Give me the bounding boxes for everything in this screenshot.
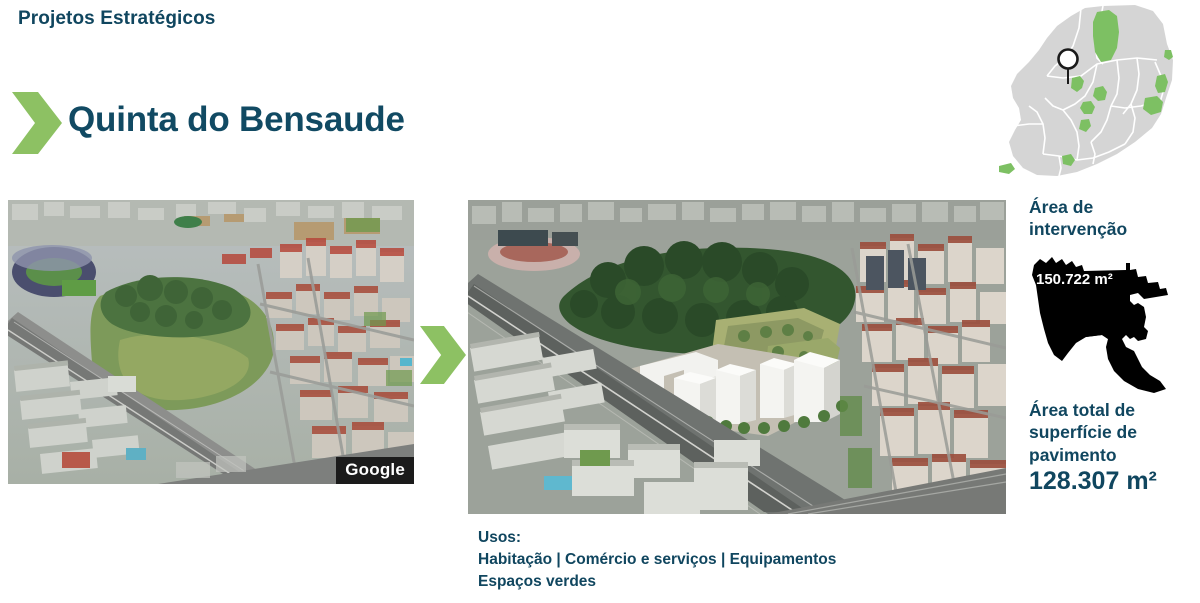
lisbon-locator-map [985, 2, 1190, 182]
intervention-area-label: Área de intervenção [1029, 196, 1199, 241]
transformation-arrow-icon [420, 326, 466, 384]
intervention-label-line-2: intervenção [1029, 218, 1199, 240]
intervention-area-shape: 150.722 m² [1026, 243, 1186, 395]
intervention-label-line-1: Área de [1029, 196, 1199, 218]
metrics-panel: Área de intervenção 150.722 m² Área tota… [1029, 196, 1199, 495]
usage-heading: Usos: [478, 527, 836, 549]
google-watermark: Google [336, 457, 414, 484]
intervention-area-value: 150.722 m² [1036, 271, 1113, 288]
slide-root: Projetos Estratégicos Quinta do Bensaude [0, 0, 1200, 603]
pavement-area-label: Área total de superfície de pavimento [1029, 399, 1199, 466]
pavement-label-line-2: superfície de [1029, 421, 1199, 443]
aerial-render-proposed-project [468, 200, 1006, 514]
usage-caption: Usos: Habitação | Comércio e serviços | … [478, 527, 836, 593]
aerial-photo-existing-site: Google [8, 200, 414, 484]
pavement-label-line-3: pavimento [1029, 444, 1199, 466]
pavement-area-value: 128.307 m² [1029, 468, 1199, 496]
slide-kicker: Projetos Estratégicos [18, 8, 215, 30]
title-chevron-icon [12, 92, 62, 154]
page-title: Quinta do Bensaude [68, 100, 405, 140]
usage-line-2: Espaços verdes [478, 571, 836, 593]
pavement-label-line-1: Área total de [1029, 399, 1199, 421]
usage-line-1: Habitação | Comércio e serviços | Equipa… [478, 549, 836, 571]
